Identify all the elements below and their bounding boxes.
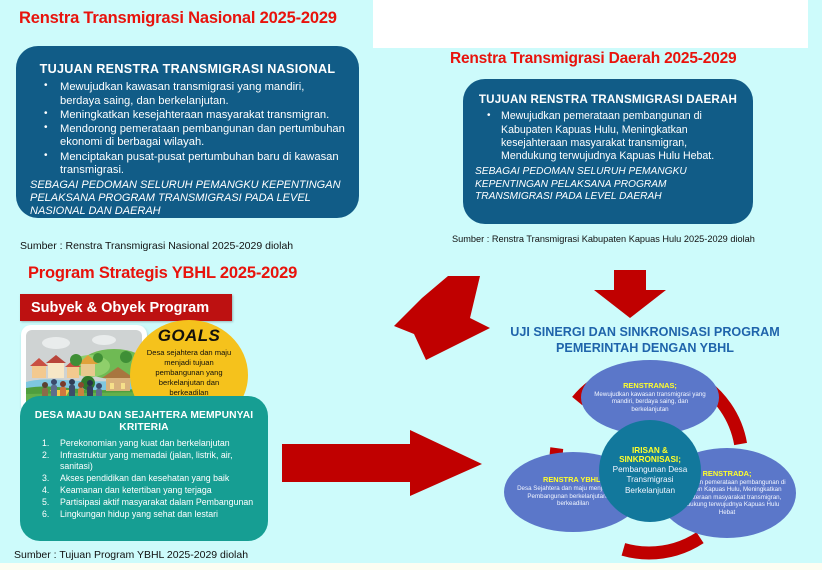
regional-bullet-list: Mewujudkan pemerataan pembangunan di Kab… — [475, 110, 741, 163]
list-item: Meningkatkan kesejahteraan masyarakat tr… — [30, 109, 345, 122]
kriteria-heading: DESA MAJU DAN SEJAHTERA MEMPUNYAI KRITER… — [30, 410, 258, 435]
arrow-right-icon — [282, 430, 487, 500]
venn-node-text: Mewujudkan kawasan transmigrasi yang man… — [593, 391, 707, 414]
subyek-obyek-banner: Subyek & Obyek Program — [20, 294, 232, 321]
national-card-heading: TUJUAN RENSTRA TRANSMIGRASI NASIONAL — [30, 62, 345, 76]
kriteria-card: DESA MAJU DAN SEJAHTERA MEMPUNYAI KRITER… — [20, 396, 268, 541]
regional-section-title: Renstra Transmigrasi Daerah 2025-2029 — [450, 50, 736, 68]
list-item: Lingkungan hidup yang sehat dan lestari — [30, 509, 258, 521]
list-item: Akses pendidikan dan kesehatan yang baik — [30, 473, 258, 485]
venn-node-label: RENSTRADA; — [703, 470, 752, 478]
national-bullet-list: Mewujudkan kawasan transmigrasi yang man… — [30, 81, 345, 177]
list-item: Infrastruktur yang memadai (jalan, listr… — [30, 450, 258, 474]
list-item: Mewujudkan kawasan transmigrasi yang man… — [30, 81, 345, 107]
list-item: Partisipasi aktif masyarakat dalam Pemba… — [30, 497, 258, 509]
goals-title: GOALS — [158, 326, 220, 346]
national-objectives-card: TUJUAN RENSTRA TRANSMIGRASI NASIONAL Mew… — [16, 46, 359, 218]
list-item: Menciptakan pusat-pusat pertumbuhan baru… — [30, 151, 345, 177]
venn-node-label: RENSTRA YBHL; — [543, 476, 603, 484]
national-section-title: Renstra Transmigrasi Nasional 2025-2029 — [19, 9, 337, 28]
regional-note: SEBAGAI PEDOMAN SELURUH PEMANGKU KEPENTI… — [475, 166, 741, 203]
subyek-obyek-label: Subyek & Obyek Program — [31, 300, 209, 316]
infographic-canvas: Renstra Transmigrasi Nasional 2025-2029 … — [0, 0, 822, 570]
national-source-caption: Sumber : Renstra Transmigrasi Nasional 2… — [20, 240, 293, 252]
national-note: SEBAGAI PEDOMAN SELURUH PEMANGKU KEPENTI… — [30, 179, 345, 219]
venn-node-label: IRISAN & SINKRONISASI; — [605, 446, 695, 464]
list-item: Mendorong pemerataan pembangunan dan per… — [30, 123, 345, 149]
kriteria-list: Perekonomian yang kuat dan berkelanjutan… — [30, 438, 258, 521]
regional-card-heading: TUJUAN RENSTRA TRANSMIGRASI DAERAH — [475, 93, 741, 106]
venn-diagram-title: UJI SINERGI DAN SINKRONISASI PROGRAM PEM… — [487, 324, 803, 357]
bottom-edge-strip — [0, 563, 822, 570]
goals-text: Desa sejahtera dan maju menjadi tujuan p… — [130, 348, 248, 398]
list-item: Perekonomian yang kuat dan berkelanjutan — [30, 438, 258, 450]
blank-white-panel — [373, 0, 808, 48]
list-item: Mewujudkan pemerataan pembangunan di Kab… — [475, 110, 741, 163]
regional-objectives-card: TUJUAN RENSTRA TRANSMIGRASI DAERAH Mewuj… — [463, 79, 753, 224]
list-item: Keamanan dan ketertiban yang terjaga — [30, 485, 258, 497]
venn-node-label: RENSTRANAS; — [623, 382, 677, 390]
arrow-down-left-icon — [392, 272, 502, 364]
arrow-down-icon — [590, 270, 670, 320]
venn-node-irisan-sinkronisasi: IRISAN & SINKRONISASI; Pembangunan Desa … — [599, 420, 701, 522]
ybhl-section-title: Program Strategis YBHL 2025-2029 — [28, 264, 297, 283]
ybhl-source-caption: Sumber : Tujuan Program YBHL 2025-2029 d… — [14, 549, 248, 561]
regional-source-caption: Sumber : Renstra Transmigrasi Kabupaten … — [452, 234, 755, 244]
venn-node-text: Pembangunan Desa Transmigrasi Berkelanju… — [605, 465, 695, 497]
venn-diagram: RENSTRANAS; Mewujudkan kawasan transmigr… — [486, 360, 806, 565]
